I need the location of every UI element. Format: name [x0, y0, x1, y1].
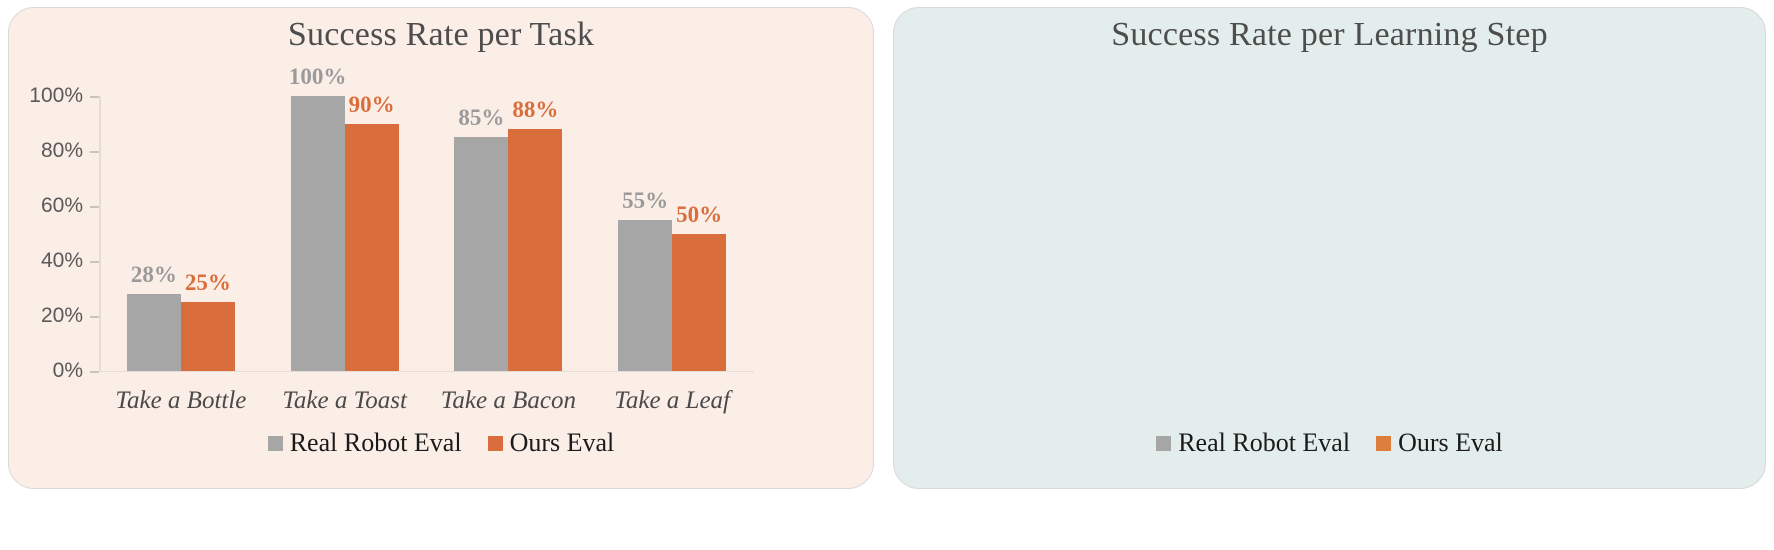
legend-swatch-orange-icon [488, 436, 503, 451]
bar-group-take-a-bacon: 85% 88% Take a Bacon [427, 96, 591, 371]
bar-orange-take-a-leaf[interactable]: 50% [672, 234, 726, 372]
bar-gray-take-a-leaf[interactable]: 55% [618, 220, 672, 371]
bar-group-take-a-leaf: 55% 50% Take a Leaf [590, 96, 754, 371]
y-tick-left-0 [90, 371, 99, 373]
y-tick-label-left-60: 60% [41, 194, 83, 218]
category-label-take-a-bottle: Take a Bottle [115, 387, 246, 415]
y-tick-label-left-80: 80% [41, 139, 83, 163]
legend-item-real-robot-eval-right[interactable]: Real Robot Eval [1156, 428, 1350, 458]
legend-left: Real Robot Eval Ours Eval [9, 428, 873, 458]
chart-title-left: Success Rate per Task [9, 16, 873, 54]
legend-label-real-robot-eval-left: Real Robot Eval [290, 428, 462, 458]
bar-value-gray-take-a-bottle: 28% [131, 262, 177, 288]
y-tick-left-40 [90, 261, 99, 263]
y-tick-label-left-40: 40% [41, 249, 83, 273]
legend-label-ours-eval-left: Ours Eval [510, 428, 615, 458]
bar-value-orange-take-a-leaf: 50% [676, 202, 722, 228]
y-tick-left-60 [90, 206, 99, 208]
bar-value-gray-take-a-leaf: 55% [622, 188, 668, 214]
bar-value-gray-take-a-toast: 100% [289, 64, 347, 90]
bar-value-orange-take-a-bacon: 88% [512, 97, 558, 123]
y-tick-left-100 [90, 96, 99, 98]
figure-canvas: Success Rate per Task 100% 80% 60% 40% 2… [0, 0, 1774, 550]
bar-orange-take-a-toast[interactable]: 90% [345, 124, 399, 372]
y-tick-label-left-20: 20% [41, 304, 83, 328]
legend-item-ours-eval-right[interactable]: Ours Eval [1376, 428, 1503, 458]
chart-title-right: Success Rate per Learning Step [894, 16, 1765, 54]
y-tick-left-80 [90, 151, 99, 153]
bar-value-gray-take-a-bacon: 85% [458, 105, 504, 131]
legend-right: Real Robot Eval Ours Eval [894, 428, 1765, 458]
category-label-take-a-toast: Take a Toast [282, 387, 407, 415]
plot-area-left: 100% 80% 60% 40% 20% 0% 28% 25% [99, 96, 754, 371]
bar-gray-take-a-bacon[interactable]: 85% [454, 137, 508, 371]
bar-orange-take-a-bacon[interactable]: 88% [508, 129, 562, 371]
legend-swatch-gray-icon [1156, 436, 1171, 451]
y-tick-left-20 [90, 316, 99, 318]
legend-item-ours-eval-left[interactable]: Ours Eval [488, 428, 615, 458]
y-tick-label-left-100: 100% [29, 84, 83, 108]
category-label-take-a-leaf: Take a Leaf [614, 387, 730, 415]
bar-value-orange-take-a-toast: 90% [349, 92, 395, 118]
chart-panel-success-rate-per-learning-step: Success Rate per Learning Step 100% 80% … [893, 7, 1766, 489]
bar-value-orange-take-a-bottle: 25% [185, 270, 231, 296]
legend-item-real-robot-eval-left[interactable]: Real Robot Eval [268, 428, 462, 458]
chart-panel-success-rate-per-task: Success Rate per Task 100% 80% 60% 40% 2… [8, 7, 874, 489]
legend-swatch-orange-icon [1376, 436, 1391, 451]
bar-gray-take-a-toast[interactable]: 100% [291, 96, 345, 371]
y-tick-label-left-0: 0% [53, 359, 83, 383]
legend-label-ours-eval-right: Ours Eval [1398, 428, 1503, 458]
bar-orange-take-a-bottle[interactable]: 25% [181, 302, 235, 371]
bar-group-take-a-bottle: 28% 25% Take a Bottle [99, 96, 263, 371]
legend-swatch-gray-icon [268, 436, 283, 451]
bar-group-take-a-toast: 100% 90% Take a Toast [263, 96, 427, 371]
category-label-take-a-bacon: Take a Bacon [441, 387, 576, 415]
legend-label-real-robot-eval-right: Real Robot Eval [1178, 428, 1350, 458]
bar-gray-take-a-bottle[interactable]: 28% [127, 294, 181, 371]
